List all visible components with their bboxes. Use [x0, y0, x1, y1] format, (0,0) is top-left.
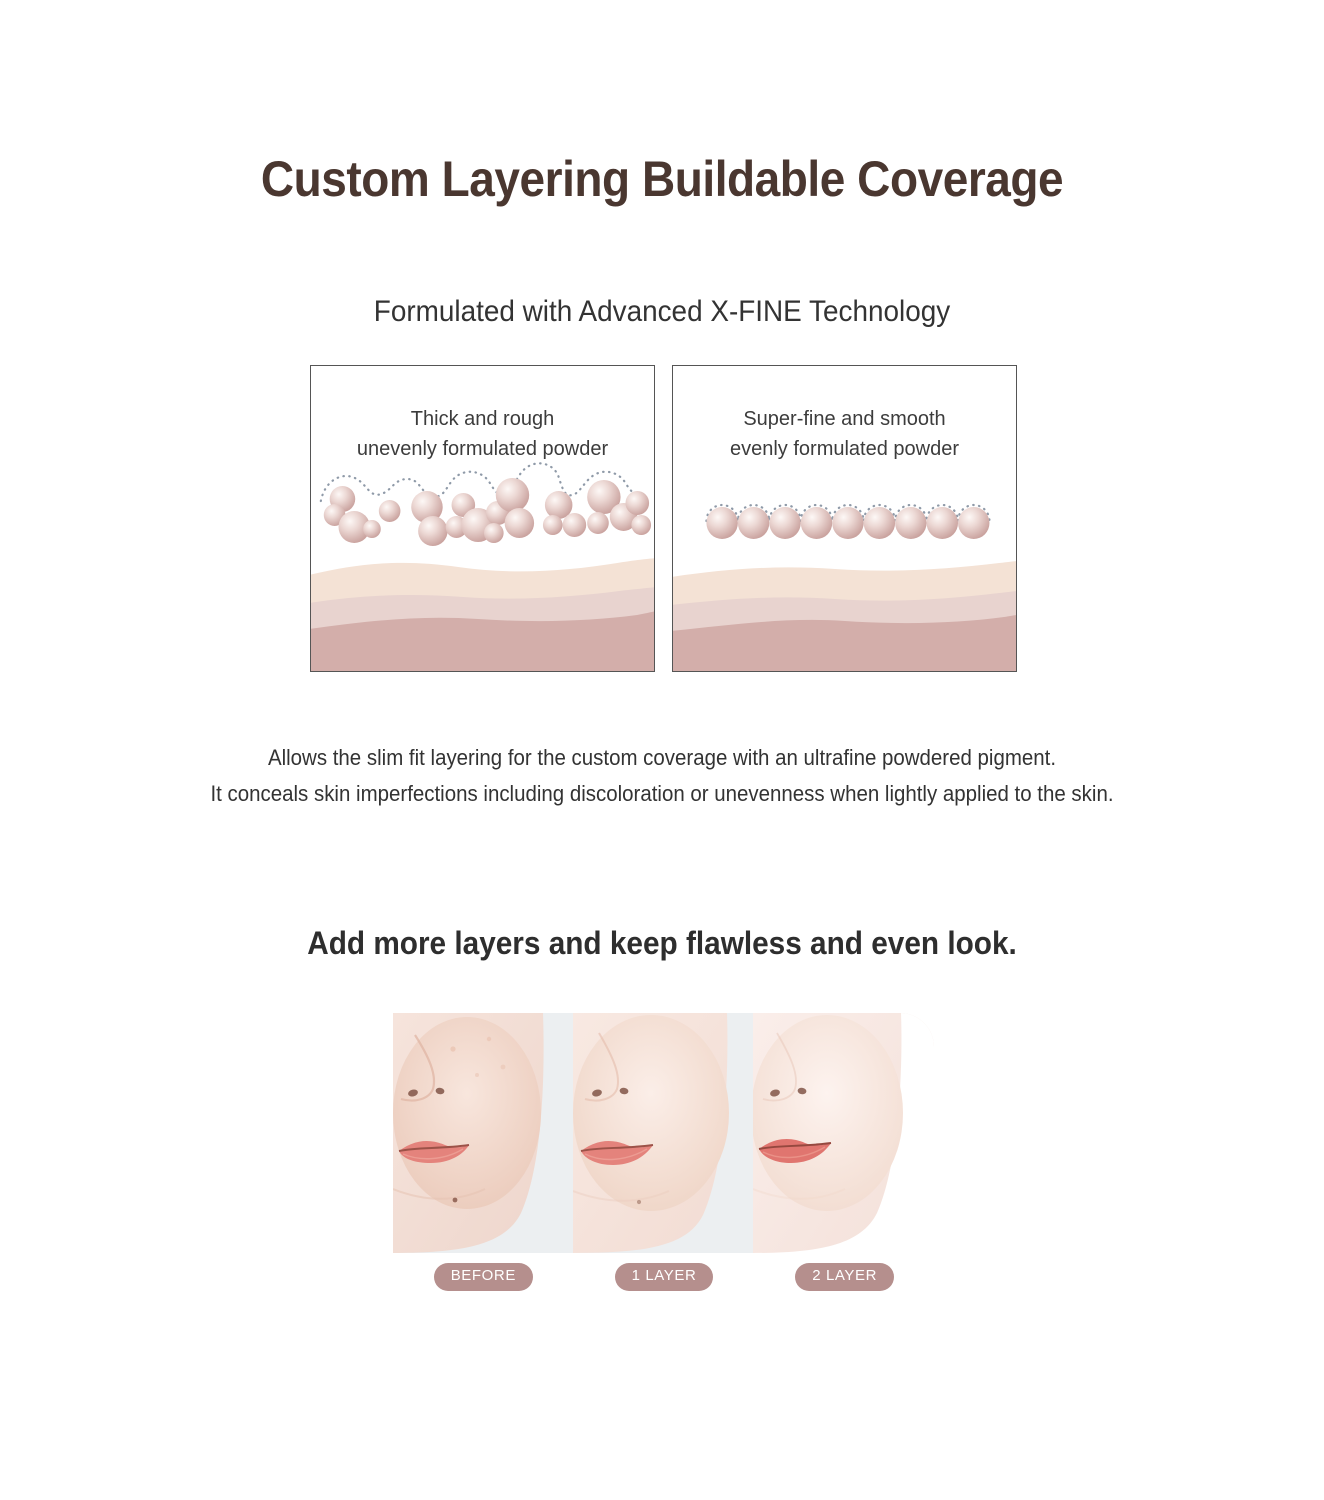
- badge-slot-one-layer: 1 LAYER: [574, 1263, 755, 1291]
- photo-one-layer: [573, 1013, 754, 1253]
- badge-slot-before: BEFORE: [393, 1263, 574, 1291]
- photo-two-layer: [753, 1013, 934, 1253]
- panel-thick-rough-caption: Thick and rough unevenly formulated powd…: [311, 404, 654, 464]
- page-subtitle: Formulated with Advanced X-FINE Technolo…: [46, 295, 1277, 329]
- description-block: Allows the slim fit layering for the cus…: [46, 740, 1277, 812]
- panel-thick-rough: Thick and rough unevenly formulated powd…: [310, 365, 655, 672]
- status-badge-before: BEFORE: [434, 1263, 533, 1291]
- panel-super-fine-smooth: Super-fine and smooth evenly formulated …: [672, 365, 1017, 672]
- status-badge-two-layer: 2 LAYER: [795, 1263, 894, 1291]
- photo-before: [393, 1013, 574, 1253]
- description-line-1: Allows the slim fit layering for the cus…: [46, 740, 1277, 776]
- description-line-2: It conceals skin imperfections including…: [46, 776, 1277, 812]
- layer-badges: BEFORE 1 LAYER 2 LAYER: [393, 1263, 935, 1291]
- powder-comparison-diagram: Thick and rough unevenly formulated powd…: [310, 365, 1018, 672]
- panel-super-fine-smooth-caption: Super-fine and smooth evenly formulated …: [673, 404, 1016, 464]
- badge-slot-two-layer: 2 LAYER: [754, 1263, 935, 1291]
- layering-photo-strip: [393, 1013, 935, 1253]
- status-badge-one-layer: 1 LAYER: [615, 1263, 714, 1291]
- page-title: Custom Layering Buildable Coverage: [53, 150, 1271, 208]
- layering-section-heading: Add more layers and keep flawless and ev…: [46, 925, 1277, 962]
